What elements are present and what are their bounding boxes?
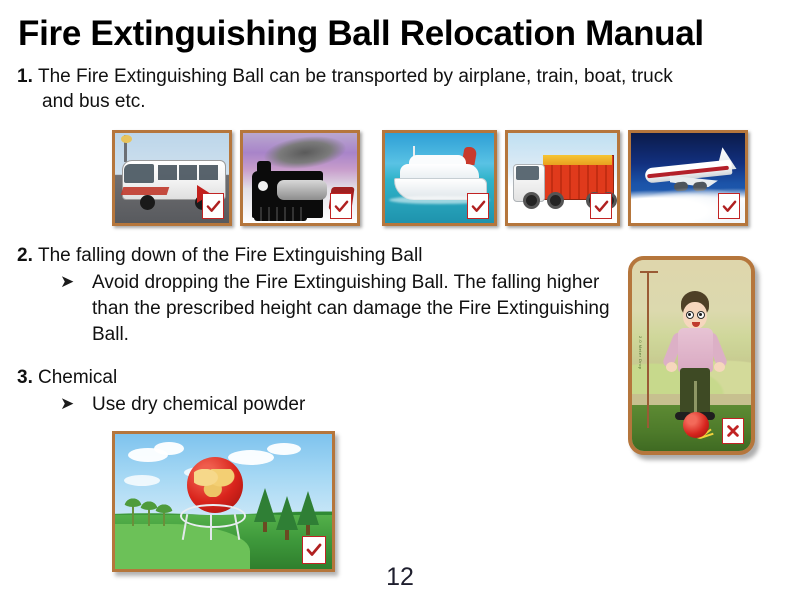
page-number: 12 [0,563,800,592]
status-badge-check [467,193,489,219]
status-badge-check [330,193,352,219]
status-badge-cross [722,418,744,444]
section-3: 3.Chemical [17,365,617,390]
status-badge-check [718,193,740,219]
ball-stand-icon [180,504,242,534]
photo-card-train[interactable] [240,130,360,226]
arrow-bullet-icon: ➤ [60,396,86,412]
section-2-number: 2. [17,243,38,268]
page-title: Fire Extinguishing Ball Relocation Manua… [18,14,788,54]
status-badge-check [590,193,612,219]
ruler-label: 2.0 Meter Drop [638,336,643,370]
photo-card-bus[interactable] [112,130,232,226]
photo-card-boat[interactable] [382,130,497,226]
section-1-heading-line1: The Fire Extinguishing Ball can be trans… [38,66,673,87]
status-badge-check [202,193,224,219]
section-3-number: 3. [17,365,38,390]
section-1-heading-line2: and bus etc. [42,89,777,114]
section-3-heading: Chemical [38,367,117,388]
section-3-sub-bullet-text: Use dry chemical powder [92,392,560,418]
photo-card-truck[interactable] [505,130,620,226]
section-2-heading: The falling down of the Fire Extinguishi… [38,245,422,266]
section-1-number: 1. [17,64,38,89]
status-badge-check [302,536,326,564]
ball-landscape-illustration [115,434,332,569]
section-2-sub-bullet-text: Avoid dropping the Fire Extinguishing Ba… [92,270,625,348]
section-1: 1.The Fire Extinguishing Ball can be tra… [17,64,777,114]
section-2: 2.The falling down of the Fire Extinguis… [17,243,617,268]
photo-card-airplane[interactable] [628,130,748,226]
arrow-bullet-icon: ➤ [60,274,86,290]
drop-illustration-card[interactable]: 2.0 Meter Drop [628,256,755,455]
section-3-sub-bullet: ➤ Use dry chemical powder [60,392,560,418]
height-ruler-icon [647,271,649,428]
fire-extinguishing-ball [683,412,709,438]
section-2-sub-bullet: ➤ Avoid dropping the Fire Extinguishing … [60,270,625,348]
chemical-illustration-card[interactable] [112,431,335,572]
